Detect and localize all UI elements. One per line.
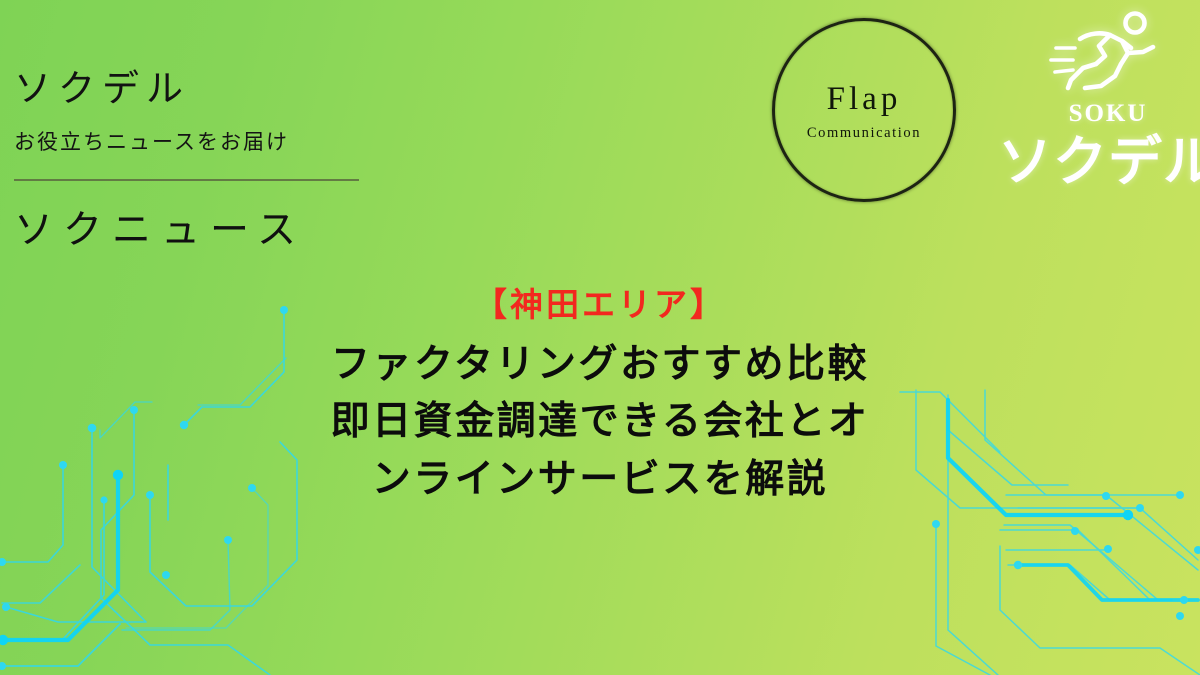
headline-line-2: 即日資金調達できる会社とオ — [0, 393, 1200, 450]
soku-japanese-label: ソクデル — [998, 135, 1200, 189]
running-person-icon — [1049, 8, 1167, 102]
headline-lines: ファクタリングおすすめ比較 即日資金調達できる会社とオ ンラインサービスを解説 — [0, 336, 1200, 508]
soku-romaji-label: SOKU — [1069, 100, 1148, 128]
headline-line-1: ファクタリングおすすめ比較 — [0, 336, 1200, 393]
flap-logo: Flap Communication — [772, 18, 956, 202]
brand-divider — [14, 179, 359, 181]
brand-block: ソクデル お役立ちニュースをお届け ソクニュース — [14, 68, 434, 255]
brand-subtitle: お役立ちニュースをお届け — [14, 126, 434, 156]
flap-logo-tagline: Communication — [807, 125, 921, 142]
brand-title: ソクデル — [14, 68, 434, 112]
headline-line-3: ンラインサービスを解説 — [0, 451, 1200, 508]
flap-logo-name: Flap — [827, 83, 902, 116]
thumbnail-canvas: ソクデル お役立ちニュースをお届け ソクニュース Flap Communicat… — [0, 0, 1200, 675]
headline-area-badge: 【神田エリア】 — [0, 284, 1200, 327]
soku-brand-mark: SOKU ソクデル — [1016, 8, 1200, 189]
headline-block: 【神田エリア】 ファクタリングおすすめ比較 即日資金調達できる会社とオ ンライン… — [0, 284, 1200, 508]
brand-section-label: ソクニュース — [14, 199, 434, 255]
